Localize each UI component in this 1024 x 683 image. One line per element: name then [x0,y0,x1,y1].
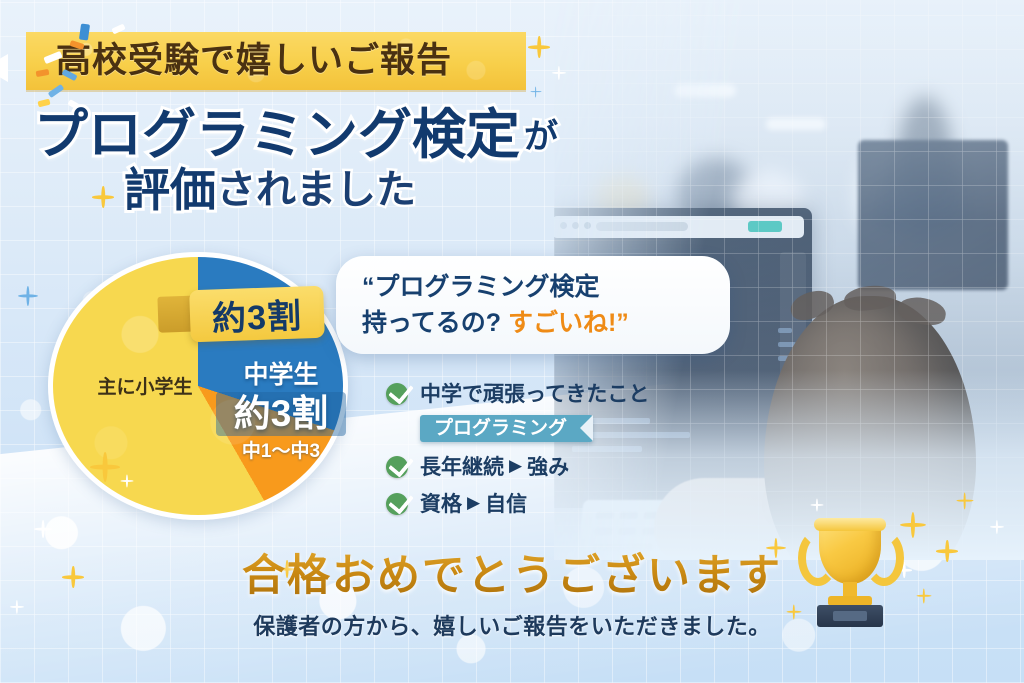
ribbon-callout: 約3割 [189,286,325,343]
sparkle-icon [530,86,541,97]
tag-row: プログラミング [386,415,716,442]
bubble-line-2: 持ってるの? すごいね!” [362,305,730,341]
pie-label-line2: 約3割 [216,392,346,436]
sparkle-icon [18,286,38,306]
pie-label-line3: 中1～中3 [216,439,346,465]
programming-tag: プログラミング [420,415,593,442]
pie-label-juniorhigh: 中学生 約3割 中1～中3 [216,360,346,465]
checklist-item-label2: 自信 [485,488,527,518]
checklist-item-label: 中学で頑張ってきたこと [420,378,649,408]
bubble-line-1: “プログラミング検定 [362,269,730,305]
sparkle-icon [990,520,1004,534]
bubble-line-2-accent: すごいね!” [508,309,629,337]
speech-bubble: “プログラミング検定 持ってるの? すごいね!” [336,256,730,354]
sparkle-icon [810,498,823,511]
checklist-item-label: 長年継続 [420,451,504,481]
check-circle-icon [386,381,411,406]
congrats-title: 合格おめでとうございます [0,548,1024,604]
checklist-item-label2: 強み [527,451,569,481]
checklist-item: 中学で頑張ってきたこと [386,378,716,408]
sparkle-icon [34,520,52,538]
sparkle-icon [90,452,120,482]
checklist-item-label: 資格 [420,488,462,518]
congrats-subtitle: 保護者の方から、嬉しいご報告をいただきました。 [0,609,1024,641]
banner-title: 高校受験で嬉しいご報告 [26,32,526,90]
check-circle-icon [386,454,411,479]
sparkle-icon [120,474,133,487]
promo-poster: 高校受験で嬉しいご報告 プログラミング検定 が 評価 されました 主に小学生 中… [0,0,1024,683]
bottom-block: 合格おめでとうございます 保護者の方から、嬉しいご報告をいただきました。 [0,548,1024,641]
checklist: 中学で頑張ってきたこと プログラミング 長年継続 ▶ 強み 資格 ▶ 自信 [386,378,716,525]
arrow-right-icon: ▶ [504,456,527,476]
headline-suffix: が [520,108,558,166]
sparkle-icon [92,186,114,208]
check-circle-icon [386,491,411,516]
checklist-item: 資格 ▶ 自信 [386,488,716,518]
header-banner: 高校受験で嬉しいご報告 [26,32,526,90]
headline-tail: されました [216,162,416,218]
pie-label-elementary: 主に小学生 [70,372,220,399]
arrow-right-icon: ▶ [462,493,485,513]
headline-block: プログラミング検定 が 評価 されました [34,104,594,218]
checklist-item: 長年継続 ▶ 強み [386,451,716,481]
headline-emphasis: 評価 [124,162,216,218]
bubble-line-2-plain: 持ってるの? [362,309,501,337]
headline-main: プログラミング検定 [34,104,520,166]
bubble-tail [0,54,8,82]
ribbon-label: 約3割 [211,288,303,340]
sparkle-icon [528,36,550,58]
sparkle-icon [552,66,566,80]
sparkle-icon [956,492,973,509]
pie-label-line1: 中学生 [216,360,346,390]
